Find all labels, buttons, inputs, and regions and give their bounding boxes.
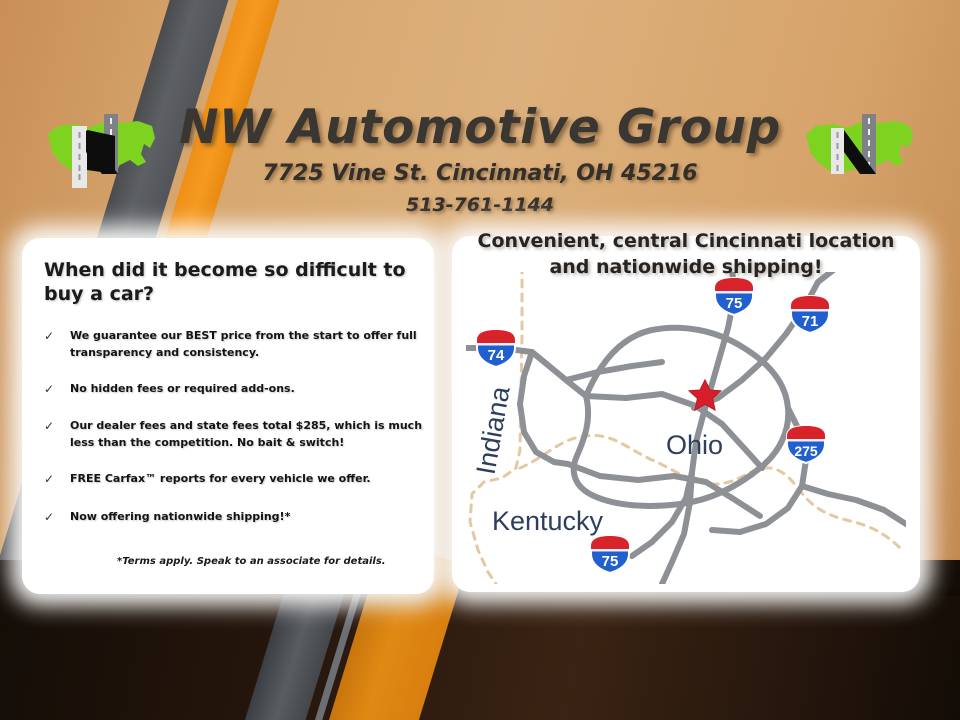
list-item: ✓ Now offering nationwide shipping!*: [44, 509, 424, 526]
state-label-ohio: Ohio: [666, 430, 723, 460]
i-75-north-shield[interactable]: 75: [712, 276, 756, 317]
svg-text:275: 275: [794, 443, 818, 459]
svg-text:74: 74: [488, 347, 505, 364]
list-item-label: FREE Carfax™ reports for every vehicle w…: [70, 471, 424, 488]
svg-text:75: 75: [726, 295, 743, 312]
regional-map[interactable]: Indiana Ohio Kentucky 74 75: [466, 272, 906, 584]
list-item: ✓ No hidden fees or required add-ons.: [44, 381, 424, 398]
svg-text:75: 75: [602, 553, 619, 570]
list-item: ✓ FREE Carfax™ reports for every vehicle…: [44, 471, 424, 488]
dealership-location-star[interactable]: [688, 378, 722, 412]
map-heading-line-2: and nationwide shipping!: [452, 254, 920, 280]
svg-text:71: 71: [802, 313, 819, 330]
checkmark-icon: ✓: [44, 509, 70, 526]
company-phone[interactable]: 513-761-1144: [0, 194, 960, 216]
checkmark-icon: ✓: [44, 471, 70, 488]
benefits-card: When did it become so difficult to buy a…: [22, 238, 434, 594]
checkmark-icon: ✓: [44, 418, 70, 451]
highway-network: [466, 272, 906, 584]
list-item: ✓ Our dealer fees and state fees total $…: [44, 418, 424, 451]
map-heading: Convenient, central Cincinnati location …: [452, 228, 920, 280]
company-address: 7725 Vine St. Cincinnati, OH 45216: [0, 161, 960, 186]
i-74-shield[interactable]: 74: [474, 328, 518, 369]
slide-canvas: NW Automotive Group 7725 Vine St. Cincin…: [0, 0, 960, 720]
i-75-south-shield[interactable]: 75: [588, 534, 632, 575]
list-item-label: Now offering nationwide shipping!*: [70, 509, 424, 526]
map-heading-line-1: Convenient, central Cincinnati location: [452, 228, 920, 254]
terms-disclaimer: *Terms apply. Speak to an associate for …: [117, 556, 417, 567]
map-card: Convenient, central Cincinnati location …: [452, 236, 920, 592]
i-275-shield[interactable]: 275: [784, 424, 828, 465]
page-title: When did it become so difficult to buy a…: [44, 258, 422, 307]
state-label-indiana: Indiana: [471, 383, 516, 476]
checkmark-icon: ✓: [44, 328, 70, 361]
list-item-label: Our dealer fees and state fees total $28…: [70, 418, 424, 451]
map-graphic: Indiana Ohio Kentucky: [466, 272, 906, 584]
checkmark-icon: ✓: [44, 381, 70, 398]
benefits-list: ✓ We guarantee our BEST price from the s…: [44, 328, 424, 546]
list-item: ✓ We guarantee our BEST price from the s…: [44, 328, 424, 361]
header-block: NW Automotive Group 7725 Vine St. Cincin…: [0, 104, 960, 216]
state-label-kentucky: Kentucky: [492, 506, 604, 536]
list-item-label: No hidden fees or required add-ons.: [70, 381, 424, 398]
company-name: NW Automotive Group: [0, 104, 960, 151]
i-71-shield[interactable]: 71: [788, 294, 832, 335]
list-item-label: We guarantee our BEST price from the sta…: [70, 328, 424, 361]
